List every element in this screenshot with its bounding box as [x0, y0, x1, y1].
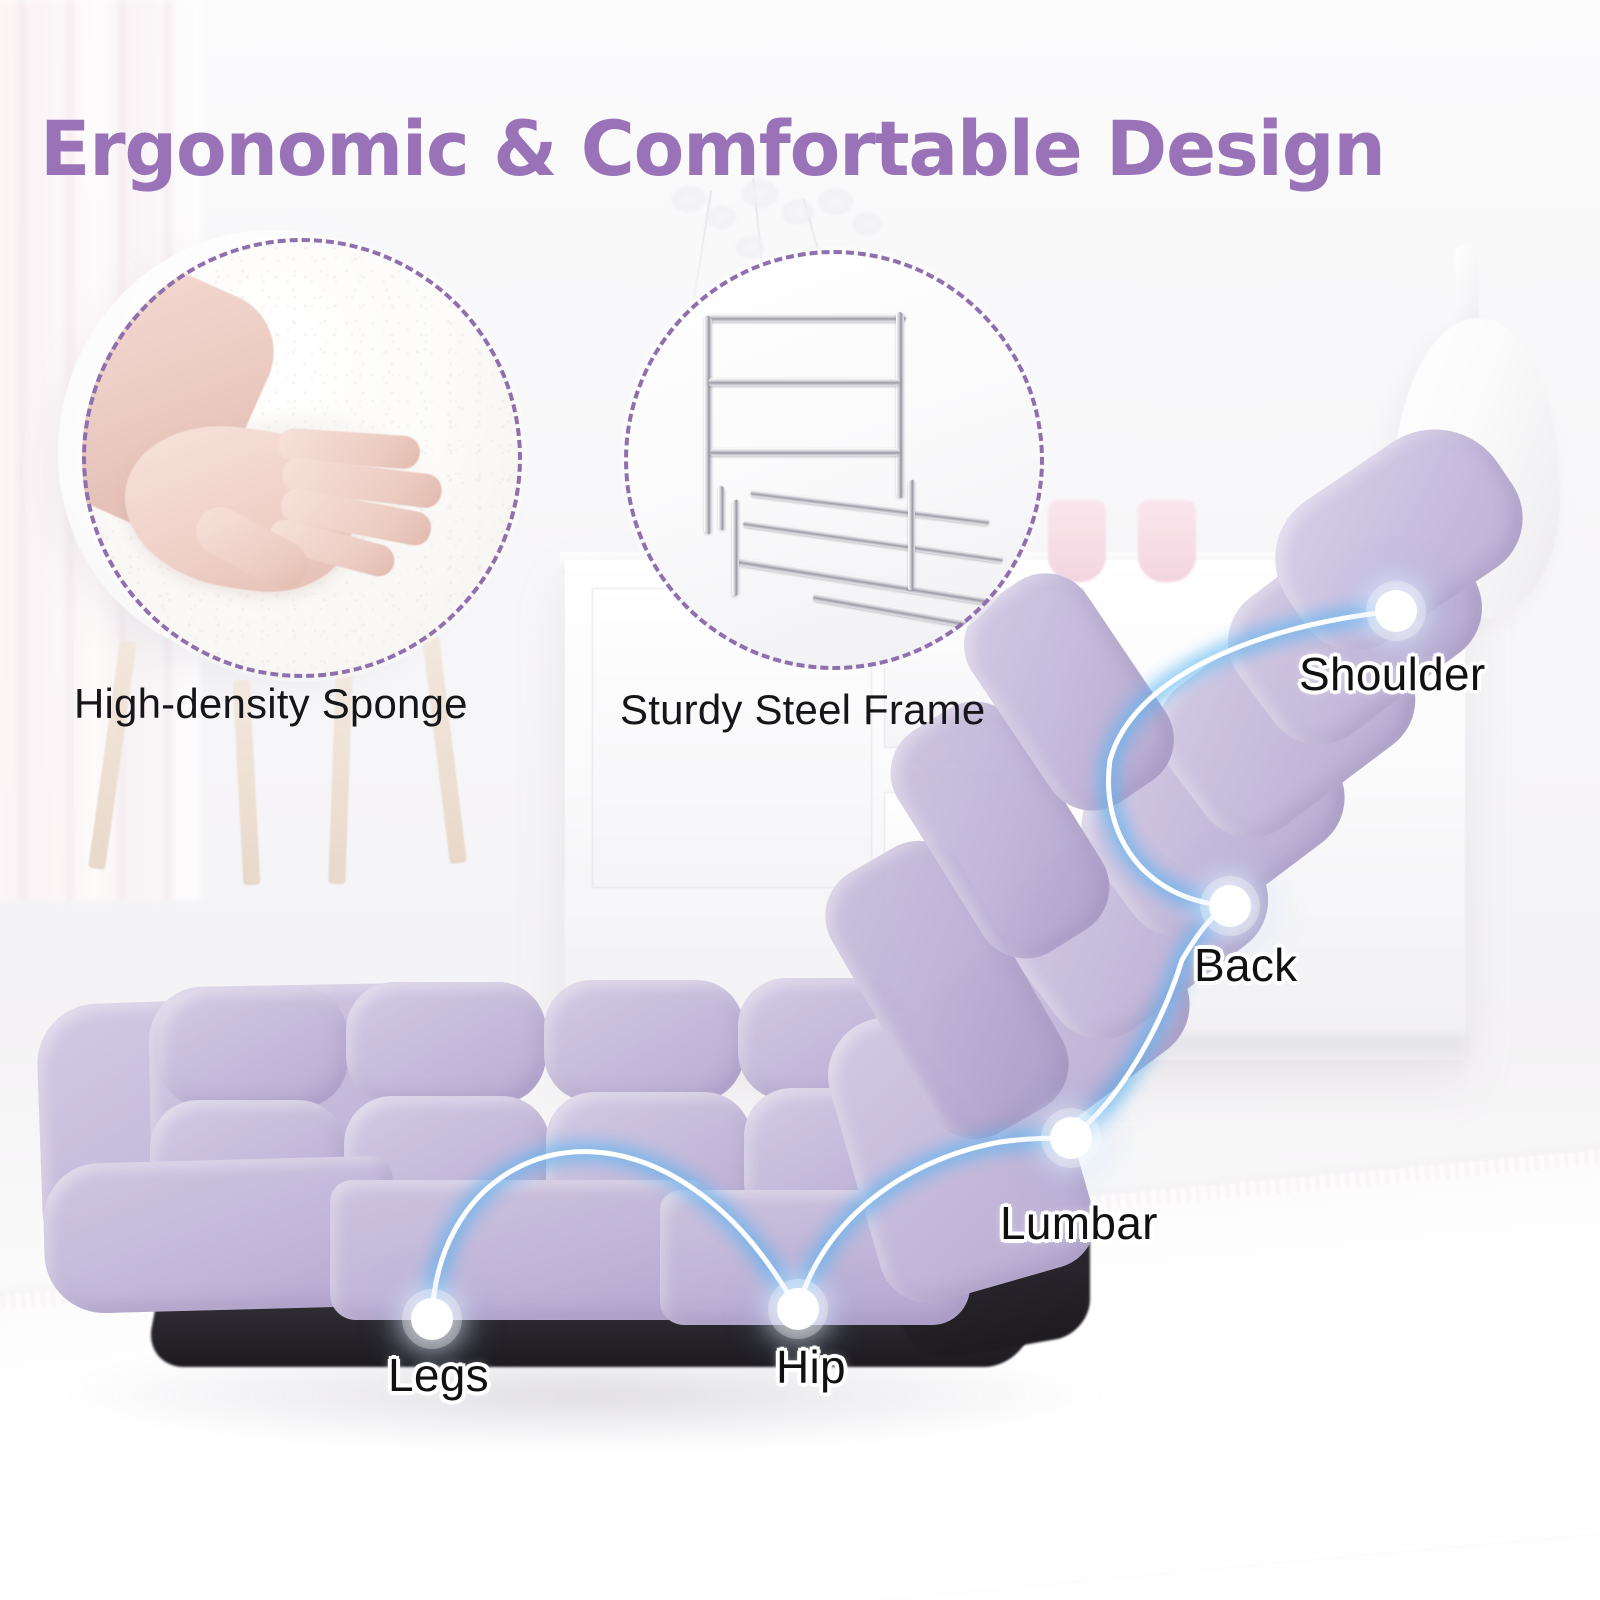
frame-backdrop — [624, 250, 1044, 670]
inset-steel-frame — [624, 250, 1044, 670]
frame-seat-left-edge — [732, 499, 739, 598]
frame-right-post — [896, 311, 904, 498]
frame-top-rail — [706, 314, 907, 322]
caption-sturdy-steel-frame: Sturdy Steel Frame — [620, 686, 985, 734]
frame-back-rail-1 — [708, 378, 901, 386]
product-feature-image: Ergonomic & Comfortable Design High-dens… — [0, 0, 1600, 1600]
frame-left-post — [704, 316, 712, 535]
inset-high-density-sponge — [82, 238, 522, 678]
frame-hinge-left — [718, 485, 725, 531]
frame-back-rail-2 — [710, 448, 901, 456]
caption-high-density-sponge: High-density Sponge — [74, 680, 468, 728]
frame-seat-right-edge — [908, 479, 915, 591]
page-title: Ergonomic & Comfortable Design — [40, 104, 1385, 193]
